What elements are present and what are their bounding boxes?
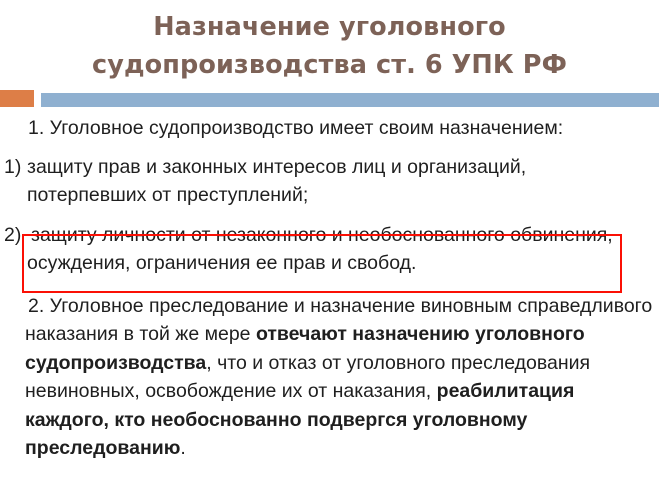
slide-body: 1. Уголовное судопроизводство имеет свои… bbox=[0, 112, 659, 463]
divider-bar bbox=[41, 93, 659, 107]
list-item-marker-2: 2) bbox=[4, 221, 21, 250]
list-item: 2) защиту личности от незаконного и необ… bbox=[0, 221, 659, 278]
divider-accent-block bbox=[0, 90, 34, 107]
title-line-2: судопроизводства ст. 6 УПК РФ bbox=[0, 46, 659, 84]
intro-paragraph: 1. Уголовное судопроизводство имеет свои… bbox=[0, 114, 659, 143]
final-paragraph: 2. Уголовное преследование и назначение … bbox=[0, 292, 659, 463]
title-line-1: Назначение уголовного bbox=[0, 8, 659, 46]
final-segment-3: . bbox=[180, 437, 185, 459]
list-item-marker-1: 1) bbox=[4, 153, 21, 182]
page-title: Назначение уголовного судопроизводства с… bbox=[0, 8, 659, 84]
title-divider bbox=[0, 90, 659, 108]
list-item-text-2: защиту личности от незаконного и необосн… bbox=[27, 224, 613, 275]
list-item: 1) защиту прав и законных интересов лиц … bbox=[0, 153, 659, 210]
slide: Назначение уголовного судопроизводства с… bbox=[0, 0, 659, 491]
list-item-text-1: защиту прав и законных интересов лиц и о… bbox=[27, 156, 526, 207]
